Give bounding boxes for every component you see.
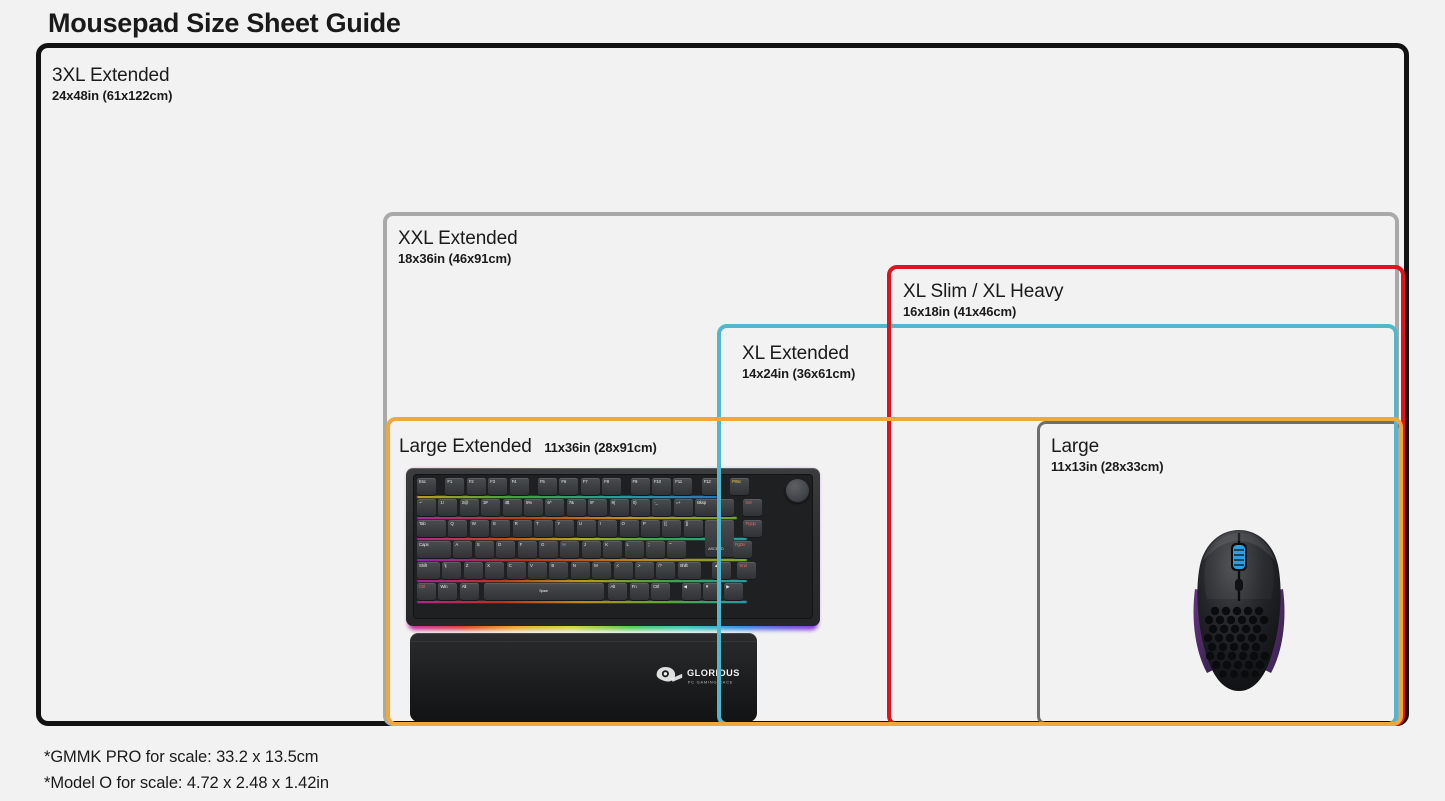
size-box-label-xl-extended: XL Extended 14x24in (36x61cm)	[742, 344, 855, 381]
footnotes: *GMMK PRO for scale: 33.2 x 13.5cm *Mode…	[44, 745, 329, 796]
size-dimensions-xl-extended: 14x24in (36x61cm)	[742, 367, 855, 381]
size-name-xl-slim-heavy: XL Slim / XL Heavy	[903, 282, 1063, 302]
size-dimensions-large-extended: 11x36in (28x91cm)	[544, 440, 657, 455]
footnote-mouse-scale: *Model O for scale: 4.72 x 2.48 x 1.42in	[44, 771, 329, 797]
size-name-large-extended: Large Extended	[399, 436, 532, 457]
size-box-label-large-extended: Large Extended 11x36in (28x91cm)	[399, 437, 657, 457]
size-box-label-xl-slim-heavy: XL Slim / XL Heavy 16x18in (41x46cm)	[903, 282, 1063, 319]
size-name-xl-extended: XL Extended	[742, 344, 855, 364]
size-box-large-extended[interactable]: Large Extended 11x36in (28x91cm)	[386, 417, 1403, 726]
size-dimensions-xl-slim-heavy: 16x18in (41x46cm)	[903, 305, 1063, 319]
footnote-keyboard-scale: *GMMK PRO for scale: 33.2 x 13.5cm	[44, 745, 329, 771]
